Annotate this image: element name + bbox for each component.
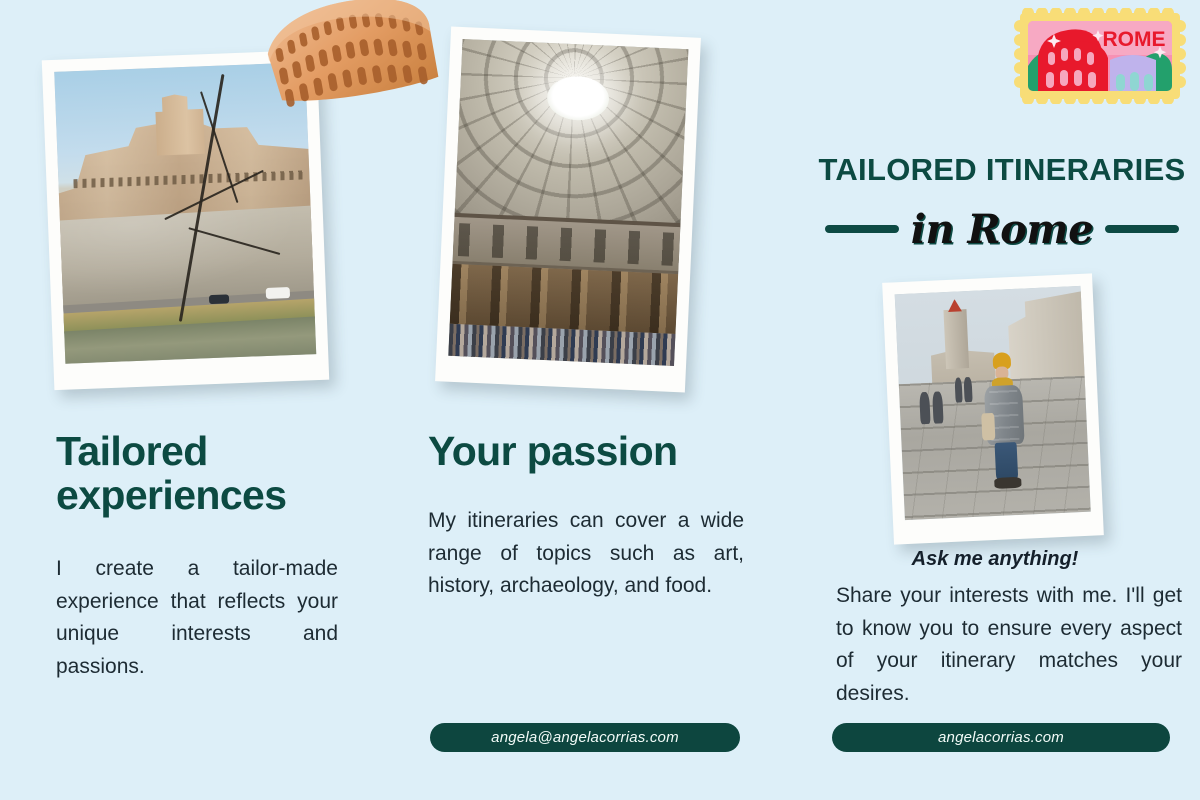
distant-figure-4 [964, 377, 973, 402]
photo-pantheon-dome [435, 27, 701, 393]
photo-angela-image [895, 286, 1091, 520]
website-contact-pill[interactable]: angelacorrias.com [832, 723, 1170, 752]
car-dark [208, 294, 228, 304]
column2-body: My itineraries can cover a wide range of… [428, 505, 744, 603]
poster-canvas: ROME Tailored exper [0, 0, 1200, 800]
photo-pantheon-image [448, 39, 688, 366]
ask-me-anything-kicker: Ask me anything! [860, 548, 1130, 571]
photo-angela-capitoline [882, 273, 1104, 544]
van-white [266, 287, 290, 299]
dash-right-icon [1105, 225, 1179, 233]
bell-tower [944, 309, 969, 369]
blue-jeans [994, 442, 1018, 481]
column1-heading: Tailored experiences [56, 430, 366, 518]
colosseum-icon [254, 0, 441, 114]
shoulder-bag [981, 413, 996, 441]
distant-figure-1 [920, 392, 931, 424]
rome-stamp-icon: ROME [1014, 8, 1186, 104]
page-title: TAILORED ITINERARIES [806, 152, 1198, 188]
dash-left-icon [825, 225, 899, 233]
rome-stamp-sticker: ROME [1014, 8, 1186, 104]
shoes [994, 477, 1022, 489]
column3-body: Share your interests with me. I'll get t… [836, 580, 1182, 710]
colosseum-illustration-sticker [254, 0, 441, 114]
distant-figure-2 [933, 392, 944, 424]
rome-stamp-label: ROME [1103, 28, 1166, 51]
email-contact-pill[interactable]: angela@angelacorrias.com [430, 723, 740, 752]
angela-figure [979, 352, 1030, 489]
title-script-in-rome: in Rome [911, 206, 1093, 253]
title-subline: in Rome [812, 198, 1192, 260]
column2-heading: Your passion [428, 430, 758, 474]
column1-body: I create a tailor-made experience that r… [56, 553, 338, 683]
